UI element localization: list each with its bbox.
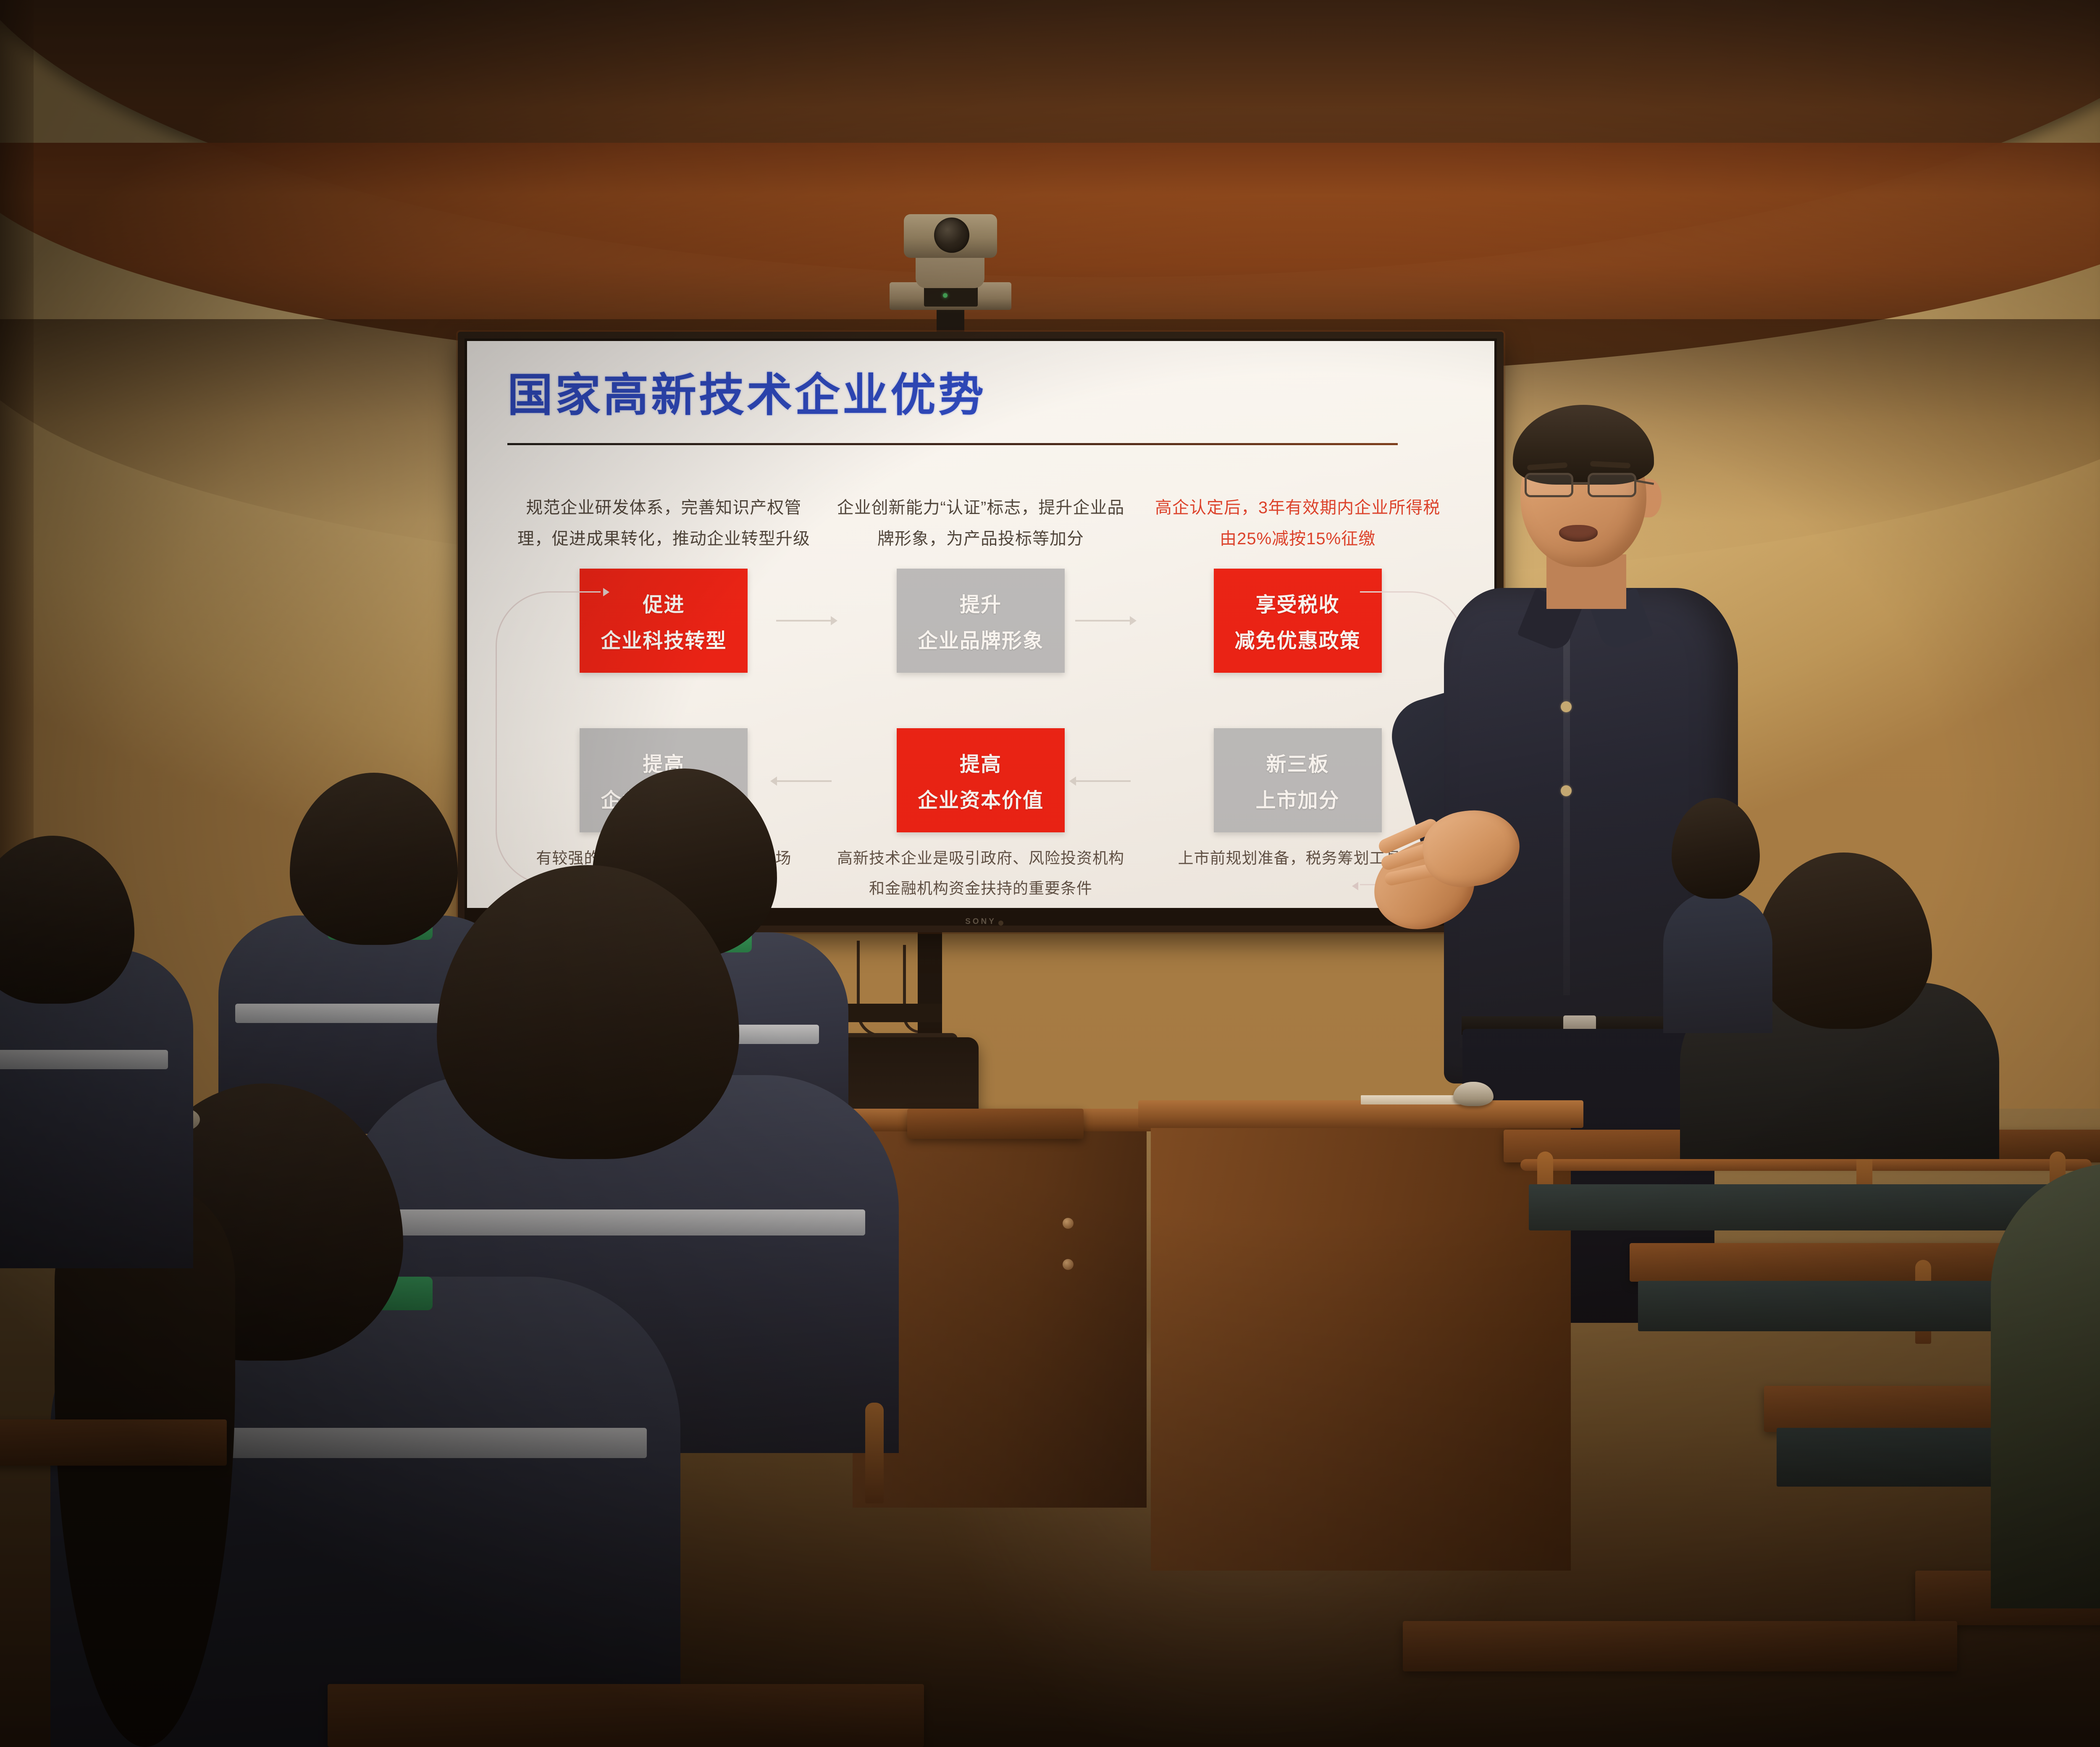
flow-node-6-line2: 上市加分 (1256, 784, 1340, 813)
power-cable (857, 941, 882, 1037)
top-caption-2: 企业创新能力“认证”标志，提升企业品牌形象，为产品投标等加分 (834, 492, 1128, 554)
shirt-placket (1563, 617, 1570, 995)
bench-desk (0, 1419, 227, 1466)
flow-node-2-line1: 提升 (960, 588, 1002, 617)
flow-node-1-line1: 促进 (643, 588, 685, 617)
desk-drawer-knob[interactable] (1063, 1218, 1074, 1229)
podium-body (1151, 1125, 1571, 1571)
flow-node-5-line1: 提高 (960, 748, 1002, 777)
glasses-bridge (1573, 482, 1588, 484)
slide-title: 国家高新技术企业优势 (507, 370, 1454, 420)
bench-desk (907, 1109, 1084, 1139)
top-caption-row: 规范企业研发体系，完善知识产权管理，促进成果转化，推动企业转型升级 企业创新能力… (507, 492, 1454, 554)
display-brand-logo: SONY (965, 917, 996, 926)
flow-node-5-line2: 企业资本价值 (918, 784, 1044, 813)
ir-receiver-icon (998, 921, 1003, 926)
loop-arrowhead-left (603, 588, 609, 596)
meeting-room-scene: 国家高新技术企业优势 规范企业研发体系，完善知识产权管理，促进成果转化，推动企业… (0, 0, 2100, 1747)
arrow-node2-to-node3 (1075, 620, 1131, 622)
camera-lens-icon (934, 218, 969, 253)
lens-right (1588, 473, 1636, 497)
flow-node-6-line1: 新三板 (1266, 748, 1329, 777)
bench-post (865, 1403, 884, 1503)
camera-status-led (943, 293, 948, 298)
flow-node-1[interactable]: 促进 企业科技转型 (580, 569, 748, 673)
podium-desktop (1138, 1100, 1583, 1128)
presenter-mouth (1559, 525, 1598, 542)
flow-node-3-line2: 减免优惠政策 (1235, 624, 1361, 653)
arrow-node6-to-node5 (1075, 780, 1131, 782)
arrow-node1-to-node2 (776, 620, 832, 622)
flow-node-5[interactable]: 提高 企业资本价值 (897, 728, 1065, 832)
flow-node-2-line2: 企业品牌形象 (918, 624, 1044, 653)
shirt-button-lower (1561, 785, 1572, 796)
lens-left (1525, 473, 1573, 497)
bench-rail (1520, 1159, 2092, 1171)
attendee-green-jacket (1991, 1163, 2100, 1608)
desk-drawer-knob[interactable] (1063, 1259, 1074, 1270)
arrow-node5-to-node4 (776, 780, 832, 782)
loop-connector-left (496, 591, 601, 885)
flow-node-3-line1: 享受税收 (1256, 588, 1340, 617)
flow-node-3[interactable]: 享受税收 减免优惠政策 (1214, 569, 1382, 673)
bench-desk (328, 1684, 924, 1747)
paper-sheet[interactable] (1361, 1095, 1466, 1104)
shirt-button-upper (1561, 701, 1572, 712)
bottom-caption-2: 高新技术企业是吸引政府、风险投资机构和金融机构资金扶持的重要条件 (834, 843, 1128, 904)
bench-desk (1403, 1621, 1957, 1671)
flow-node-6[interactable]: 新三板 上市加分 (1214, 728, 1382, 832)
reflective-stripe (0, 1050, 168, 1069)
top-caption-1: 规范企业研发体系，完善知识产权管理，促进成果转化，推动企业转型升级 (517, 492, 811, 554)
flow-node-2[interactable]: 提升 企业品牌形象 (897, 569, 1065, 673)
loop-arrowhead-right (1352, 882, 1358, 890)
flow-node-1-line2: 企业科技转型 (601, 624, 727, 653)
title-underline (507, 443, 1398, 445)
reflective-stripe (370, 1209, 865, 1235)
eyeglasses-icon (1525, 473, 1645, 498)
attendee-uniform (1663, 890, 1772, 1033)
